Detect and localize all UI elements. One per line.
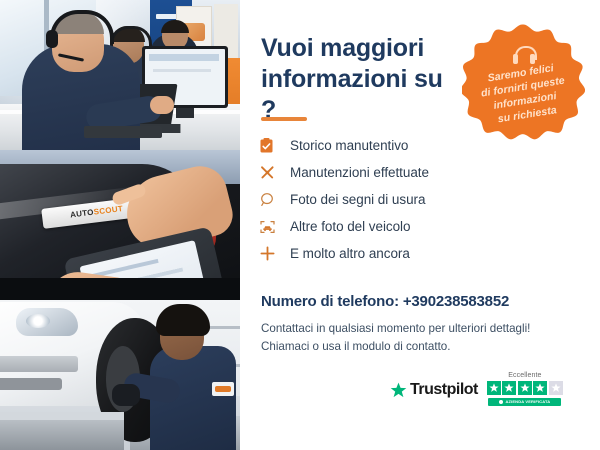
mechanic-wheel-photo — [0, 300, 240, 450]
list-item-label: E molto altro ancora — [290, 246, 410, 261]
car-grille-upper — [0, 356, 78, 372]
star-1 — [487, 381, 501, 395]
star-4 — [533, 381, 547, 395]
trustpilot-widget[interactable]: Trustpilot Eccellente AZIENDA VERIFICATA — [390, 372, 590, 406]
plus-icon — [260, 246, 290, 261]
photo-column: AUTOSCOUT — [0, 0, 240, 450]
trustpilot-name: Trustpilot — [410, 381, 478, 399]
subtext-line-2: Chiamaci o usa il modulo di contatto. — [261, 338, 561, 356]
verified-business-text: AZIENDA VERIFICATA — [505, 399, 550, 404]
star-3 — [518, 381, 532, 395]
ground-shadow — [0, 278, 240, 300]
contact-info-banner: AUTOSCOUT Vuoi — [0, 0, 600, 450]
lift-platform — [0, 420, 124, 450]
headset-band-icon — [50, 10, 114, 44]
headset-earcup-left — [513, 54, 518, 64]
phone-number[interactable]: +390238583852 — [403, 293, 509, 310]
label-strip-text: AUTOSCOUT — [70, 204, 124, 219]
headset-earcup-right — [530, 54, 535, 64]
list-item: Manutenzioni effettuate — [260, 159, 510, 186]
wrench-screwdriver-icon — [260, 165, 290, 180]
title-underline-divider — [261, 117, 307, 121]
call-center-photo — [0, 0, 240, 150]
magnifier-icon — [260, 192, 290, 207]
lift-platform-top — [0, 412, 124, 420]
list-item: E molto altro ancora — [260, 240, 510, 267]
phone-line: Numero di telefono: +390238583852 — [261, 293, 509, 310]
uniform-logo-badge — [212, 382, 234, 396]
subtext-line-1: Contattaci in qualsiasi momento per ulte… — [261, 320, 561, 338]
car-frame-icon — [260, 220, 290, 234]
car-headlight — [16, 308, 78, 336]
verified-check-icon — [499, 400, 503, 404]
star-2 — [502, 381, 516, 395]
trustpilot-star-icon — [390, 382, 407, 399]
list-item-label: Manutenzioni effettuate — [290, 165, 429, 180]
verified-business-badge: AZIENDA VERIFICATA — [488, 398, 561, 406]
mechanic-glove — [112, 384, 140, 406]
keyboard — [84, 126, 162, 138]
headset-icon — [512, 44, 536, 66]
trustpilot-rating: Eccellente AZIENDA VERIFICATA — [487, 372, 563, 406]
contact-subtext: Contattaci in qualsiasi momento per ulte… — [261, 320, 561, 355]
agent-hand — [150, 96, 174, 114]
page-title: Vuoi maggiori informazioni su ? — [261, 33, 461, 126]
trustpilot-stars — [487, 381, 563, 395]
vehicle-inspection-tablet-photo: AUTOSCOUT — [0, 150, 240, 300]
monitor-stand — [176, 108, 194, 118]
list-item-label: Foto dei segni di usura — [290, 192, 425, 207]
label-strip-accent: SCOUT — [93, 204, 123, 217]
list-item-label: Storico manutentivo — [290, 138, 408, 153]
star-5 — [549, 381, 563, 395]
mechanic-hair — [156, 304, 210, 336]
list-item-label: Altre foto del veicolo — [290, 219, 410, 234]
list-item: Altre foto del veicolo — [260, 213, 510, 240]
list-item: Foto dei segni di usura — [260, 186, 510, 213]
car-grille-lower — [0, 378, 62, 390]
phone-label: Numero di telefono: — [261, 293, 399, 310]
list-item: Storico manutentivo — [260, 132, 510, 159]
headset-earcup-icon — [46, 30, 58, 48]
feature-list: Storico manutentivo Manutenzioni effettu… — [260, 132, 510, 267]
trustpilot-logo: Trustpilot — [390, 381, 478, 399]
content-panel: Vuoi maggiori informazioni su ? Saremo f… — [240, 0, 600, 450]
trustpilot-rating-label: Eccellente — [508, 372, 541, 379]
callout-badge: Saremo felici di fornirti queste informa… — [462, 22, 585, 145]
clipboard-check-icon — [260, 138, 290, 153]
